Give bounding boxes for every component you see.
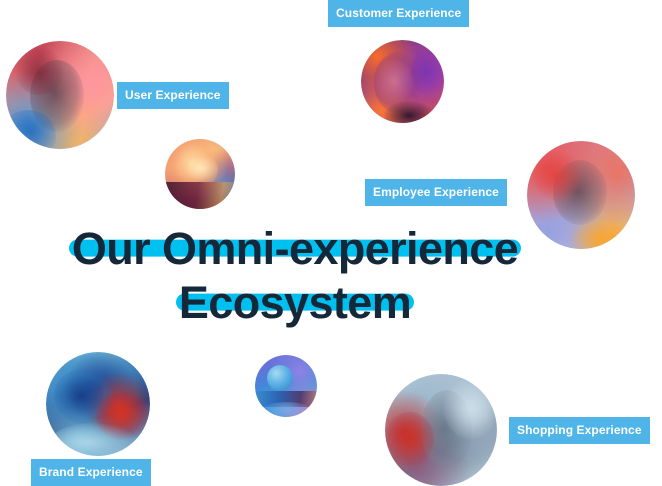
pale-base [50, 423, 137, 456]
neon-rim [411, 47, 444, 97]
badge-employee-experience[interactable]: Employee Experience [365, 179, 507, 206]
hair-red [533, 150, 583, 202]
circle-image-abstract-cool [255, 355, 317, 417]
abstract-smoke-artwork [46, 352, 150, 456]
badge-user-experience[interactable]: User Experience [117, 82, 229, 109]
badge-brand-experience[interactable]: Brand Experience [31, 459, 151, 486]
portrait-artwork [6, 41, 114, 149]
portrait-artwork [361, 40, 444, 123]
page-title: Our Omni-experience Ecosystem [0, 222, 590, 330]
page-title-line-2: Ecosystem [0, 276, 590, 330]
circle-image-brand-experience [46, 352, 150, 456]
circle-image-shopping-experience [385, 374, 497, 486]
page-title-line-2-text: Ecosystem [176, 276, 414, 330]
bottom-shadow [384, 101, 434, 123]
circle-image-customer-experience [361, 40, 444, 123]
page-title-line-1-text: Our Omni-experience [69, 222, 521, 276]
abstract-sphere-artwork [255, 355, 317, 417]
red-smoke [385, 412, 434, 466]
portrait-artwork [385, 374, 497, 486]
badge-customer-experience[interactable]: Customer Experience [328, 0, 469, 27]
pale-backdrop [443, 378, 497, 438]
circle-image-user-experience [6, 41, 114, 149]
dark-band [165, 182, 235, 209]
hair-shade [15, 47, 65, 95]
circle-image-abstract-warm [165, 139, 235, 209]
abstract-warm-artwork [165, 139, 235, 209]
omni-experience-ecosystem-graphic: Our Omni-experience Ecosystem Customer E… [0, 0, 662, 486]
badge-shopping-experience[interactable]: Shopping Experience [509, 417, 650, 444]
inner-sphere [267, 365, 293, 391]
page-title-line-1: Our Omni-experience [0, 222, 590, 276]
lower-glow [261, 402, 313, 417]
